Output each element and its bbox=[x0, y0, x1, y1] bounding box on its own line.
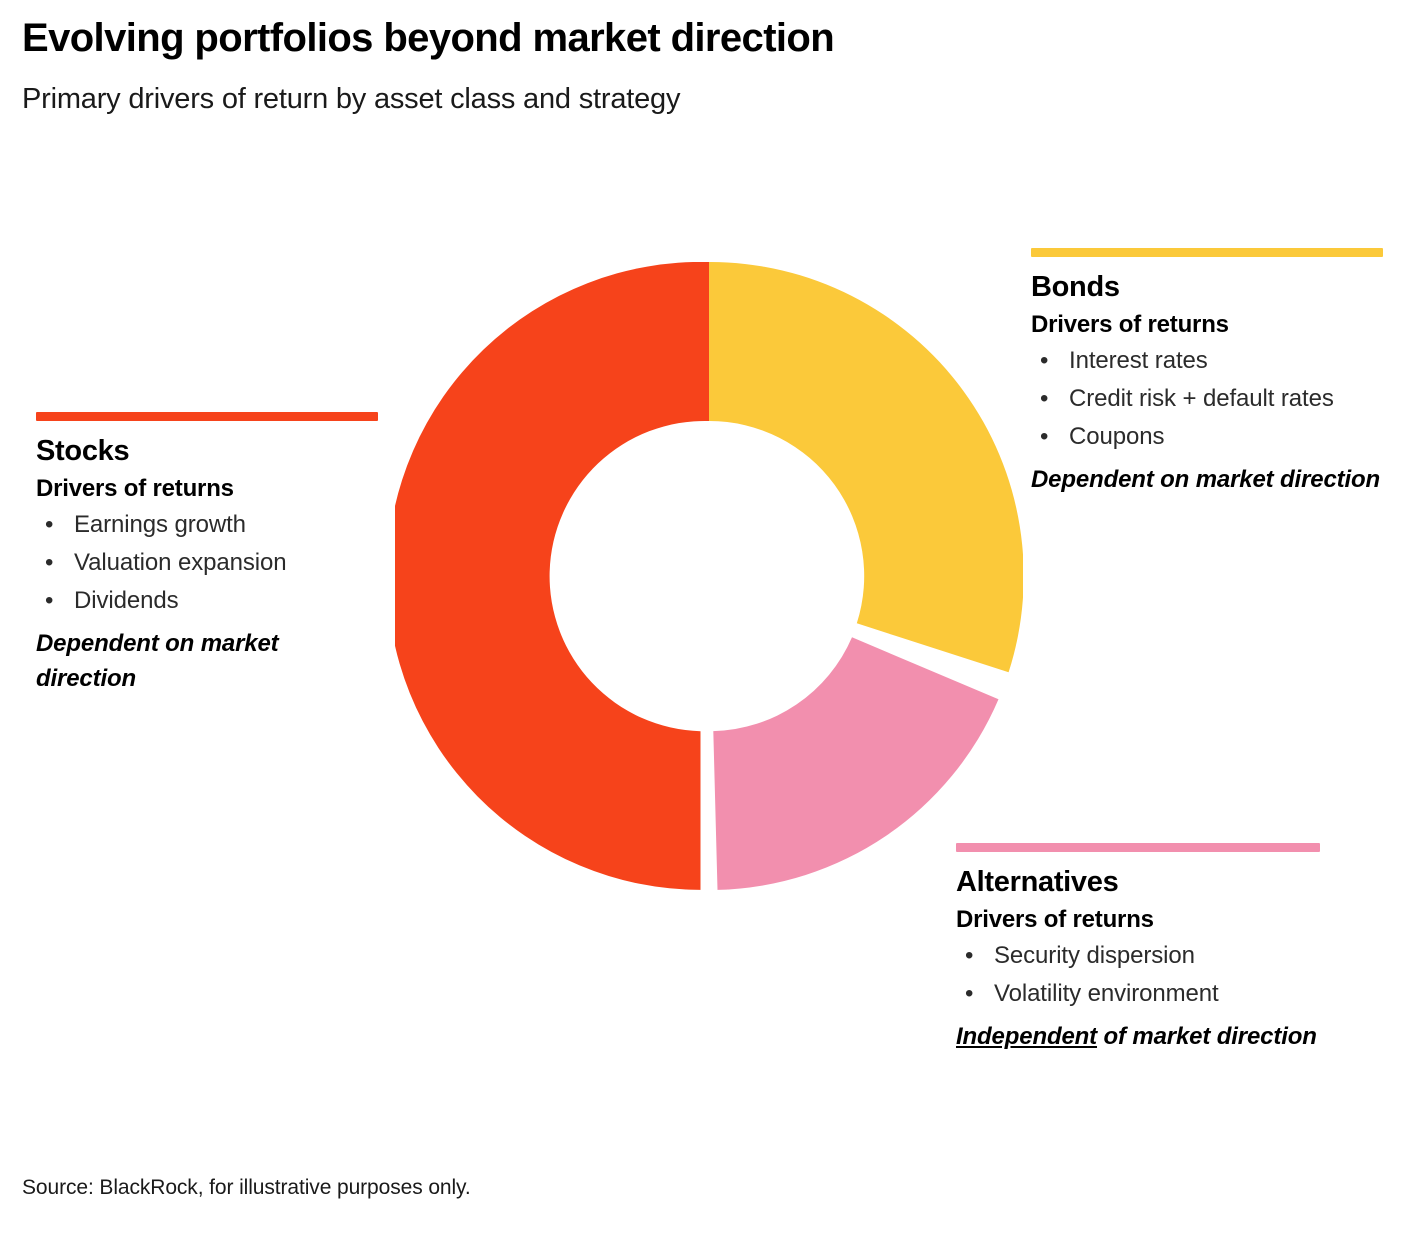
panel-heading-stocks: Stocks bbox=[36, 435, 378, 468]
bullet-text: Valuation expansion bbox=[74, 549, 286, 576]
bullet-list-stocks: •Earnings growth •Valuation expansion •D… bbox=[36, 506, 378, 620]
note-emphasis: Independent bbox=[956, 1023, 1097, 1050]
list-item: •Coupons bbox=[1031, 418, 1383, 456]
legend-panel-stocks: Stocks Drivers of returns •Earnings grow… bbox=[36, 412, 378, 696]
color-rule-stocks bbox=[36, 412, 378, 421]
bullet-icon: • bbox=[45, 544, 53, 582]
list-item: •Volatility environment bbox=[956, 975, 1320, 1013]
bullet-text: Credit risk + default rates bbox=[1069, 385, 1334, 412]
panel-heading-alternatives: Alternatives bbox=[956, 866, 1320, 899]
donut-segment-stocks[interactable] bbox=[395, 262, 709, 890]
page-title: Evolving portfolios beyond market direct… bbox=[22, 17, 834, 59]
bullet-text: Dividends bbox=[74, 587, 179, 614]
donut-segment-bonds[interactable] bbox=[709, 262, 1023, 672]
bullet-text: Earnings growth bbox=[74, 511, 246, 538]
bullet-icon: • bbox=[45, 582, 53, 620]
bullet-icon: • bbox=[1040, 418, 1048, 456]
market-dependency-note-bonds: Dependent on market direction bbox=[1031, 463, 1383, 498]
color-rule-alternatives bbox=[956, 843, 1320, 852]
note-text: of market direction bbox=[1097, 1023, 1317, 1050]
donut-chart bbox=[395, 262, 1023, 890]
bullet-text: Security dispersion bbox=[994, 942, 1195, 969]
bullet-icon: • bbox=[965, 937, 973, 975]
drivers-label-alternatives: Drivers of returns bbox=[956, 906, 1320, 935]
list-item: •Security dispersion bbox=[956, 937, 1320, 975]
bullet-text: Coupons bbox=[1069, 423, 1164, 450]
note-text: Dependent on market direction bbox=[36, 630, 279, 692]
source-note: Source: BlackRock, for illustrative purp… bbox=[22, 1176, 471, 1200]
bullet-icon: • bbox=[965, 975, 973, 1013]
bullet-list-bonds: •Interest rates •Credit risk + default r… bbox=[1031, 342, 1383, 456]
bullet-icon: • bbox=[1040, 342, 1048, 380]
bullet-icon: • bbox=[45, 506, 53, 544]
color-rule-bonds bbox=[1031, 248, 1383, 257]
drivers-label-bonds: Drivers of returns bbox=[1031, 311, 1383, 340]
list-item: •Interest rates bbox=[1031, 342, 1383, 380]
list-item: •Valuation expansion bbox=[36, 544, 378, 582]
drivers-label-stocks: Drivers of returns bbox=[36, 475, 378, 504]
market-dependency-note-stocks: Dependent on market direction bbox=[36, 627, 378, 697]
note-text: Dependent on market direction bbox=[1031, 466, 1380, 493]
legend-panel-alternatives: Alternatives Drivers of returns •Securit… bbox=[956, 843, 1320, 1055]
list-item: •Dividends bbox=[36, 582, 378, 620]
bullet-text: Interest rates bbox=[1069, 347, 1208, 374]
bullet-icon: • bbox=[1040, 380, 1048, 418]
bullet-text: Volatility environment bbox=[994, 980, 1219, 1007]
list-item: •Credit risk + default rates bbox=[1031, 380, 1383, 418]
panel-heading-bonds: Bonds bbox=[1031, 271, 1383, 304]
list-item: •Earnings growth bbox=[36, 506, 378, 544]
infographic-canvas: Evolving portfolios beyond market direct… bbox=[0, 0, 1422, 1248]
page-subtitle: Primary drivers of return by asset class… bbox=[22, 84, 680, 116]
market-dependency-note-alternatives: Independent of market direction bbox=[956, 1020, 1320, 1055]
bullet-list-alternatives: •Security dispersion •Volatility environ… bbox=[956, 937, 1320, 1013]
legend-panel-bonds: Bonds Drivers of returns •Interest rates… bbox=[1031, 248, 1383, 498]
